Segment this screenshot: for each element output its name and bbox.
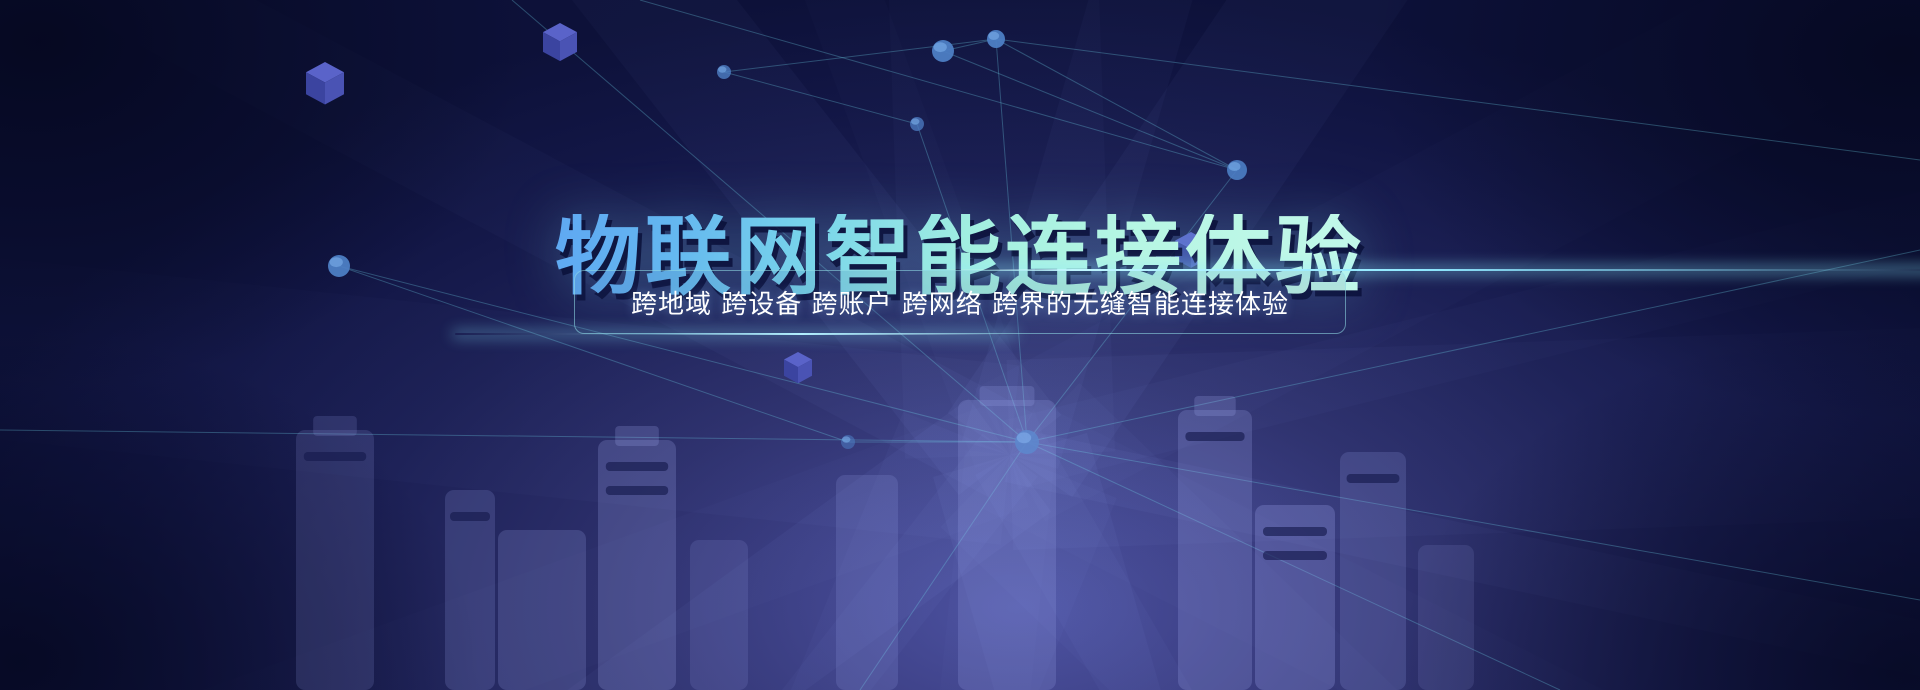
- iot-hero-banner: 物联网智能连接体验 跨地域 跨设备 跨账户 跨网络 跨界的无缝智能连接体验: [0, 0, 1920, 690]
- subtitle-text: 跨地域 跨设备 跨账户 跨网络 跨界的无缝智能连接体验: [631, 284, 1289, 321]
- node-top-right-icon: [987, 30, 1005, 48]
- glow-line-top-icon: [945, 269, 1920, 271]
- node-crest-icon: [932, 40, 954, 62]
- node-mid-left-icon: [910, 117, 924, 131]
- cube-upper-mid-icon: [543, 23, 577, 61]
- building-5: [690, 540, 748, 690]
- building-1: [296, 416, 374, 690]
- building-10: [1340, 452, 1406, 690]
- subtitle-container: 跨地域 跨设备 跨账户 跨网络 跨界的无缝智能连接体验: [0, 270, 1920, 334]
- building-11: [1418, 545, 1474, 690]
- network-link: [640, 0, 1237, 170]
- building-3: [498, 530, 586, 690]
- building-7: [958, 386, 1056, 690]
- network-link: [943, 51, 1237, 170]
- building-4: [598, 426, 676, 690]
- subtitle-box: 跨地域 跨设备 跨账户 跨网络 跨界的无缝智能连接体验: [574, 270, 1346, 334]
- network-link: [724, 72, 917, 124]
- building-8: [1178, 396, 1252, 690]
- node-upper-left-icon: [717, 65, 731, 79]
- network-link: [996, 39, 1920, 160]
- cube-left-icon: [306, 62, 344, 105]
- building-2: [445, 490, 495, 690]
- network-link: [996, 39, 1237, 170]
- building-9: [1255, 505, 1335, 690]
- building-6: [836, 475, 898, 690]
- city-skyline: [0, 370, 1920, 690]
